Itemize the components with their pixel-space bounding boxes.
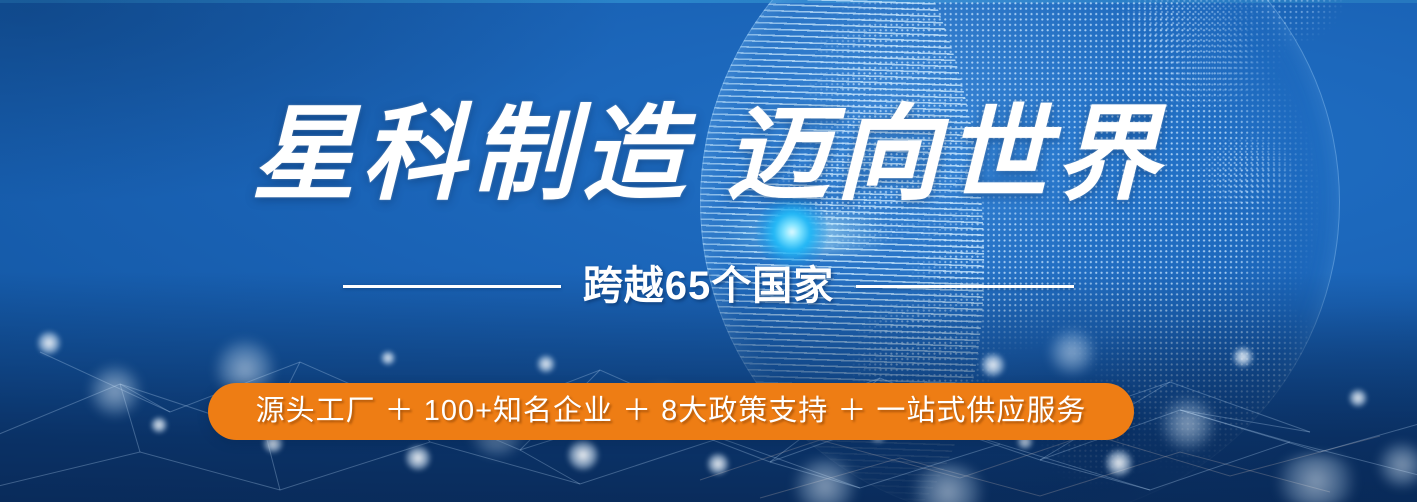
particle-dot [1268, 454, 1364, 502]
particle-dot [980, 352, 1006, 378]
particle-dot [536, 354, 556, 374]
particle-dot [1160, 396, 1216, 452]
particle-dot [706, 452, 730, 476]
headline-part-1: 星科制造 [251, 98, 691, 213]
particle-dot [1232, 346, 1254, 368]
particle-dot [566, 438, 600, 472]
particle-dot [404, 444, 432, 472]
features-badge-label: 源头工厂 ＋ 100+知名企业 ＋ 8大政策支持 ＋ 一站式供应服务 [256, 397, 1087, 426]
particle-dot [88, 364, 142, 418]
headline-part-2: 迈向世界 [726, 98, 1166, 213]
particle-dot [1048, 328, 1096, 376]
particle-dot [380, 350, 396, 366]
particle-dot [150, 416, 168, 434]
particle-dot [36, 330, 62, 356]
divider-line-left [343, 285, 561, 288]
divider-line-right [856, 285, 1074, 288]
banner-subtitle: 跨越65个国家 [583, 266, 835, 306]
banner-headline: 星科制造迈向世界 [0, 104, 1417, 208]
promo-banner: 星科制造迈向世界 跨越65个国家 源头工厂 ＋ 100+知名企业 ＋ 8大政策支… [0, 0, 1417, 502]
particle-dot [1104, 448, 1134, 478]
subtitle-row: 跨越65个国家 [0, 266, 1417, 306]
particle-dot [1348, 388, 1368, 408]
features-badge[interactable]: 源头工厂 ＋ 100+知名企业 ＋ 8大政策支持 ＋ 一站式供应服务 [208, 383, 1134, 440]
